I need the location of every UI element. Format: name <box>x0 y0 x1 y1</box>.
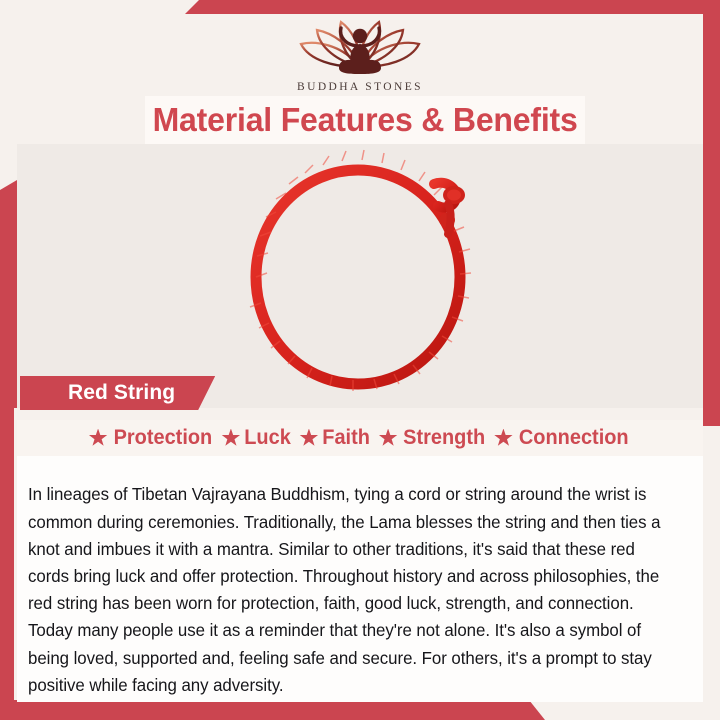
description-panel: In lineages of Tibetan Vajrayana Buddhis… <box>17 456 703 702</box>
benefit-label: Faith <box>323 426 371 450</box>
star-icon <box>494 429 513 448</box>
benefit-label: Strength <box>403 426 485 450</box>
benefit-item: Connection <box>494 426 632 450</box>
benefit-label: Luck <box>245 426 292 450</box>
brand-header: BUDDHA STONES <box>0 16 720 93</box>
product-image-panel <box>17 144 703 408</box>
star-icon <box>299 429 318 448</box>
benefit-item: Strength <box>379 426 487 450</box>
benefits-row: Protection Luck Faith Strength Connectio… <box>17 420 703 456</box>
title-band: Material Features & Benefits <box>145 96 585 144</box>
frame-bar-left-upper <box>0 180 17 408</box>
description-text: In lineages of Tibetan Vajrayana Buddhis… <box>28 481 672 699</box>
star-icon <box>379 429 398 448</box>
frame-bar-top <box>185 0 720 14</box>
product-label: Red String <box>68 381 175 405</box>
benefit-item: Protection <box>89 426 215 450</box>
frame-bar-bottom <box>0 700 545 720</box>
benefit-item: Luck <box>221 426 292 450</box>
benefit-item: Faith <box>299 426 371 450</box>
benefit-label: Protection <box>113 426 212 450</box>
product-label-banner: Red String <box>20 376 215 410</box>
lotus-meditation-logo-icon <box>295 16 425 78</box>
star-icon <box>89 429 108 448</box>
frame-bar-left-lower <box>0 405 14 720</box>
benefit-label: Connection <box>519 426 629 450</box>
infographic-poster: BUDDHA STONES Material Features & Benefi… <box>0 0 720 720</box>
page-title: Material Features & Benefits <box>152 101 577 139</box>
red-string-bracelet-image <box>220 146 500 396</box>
star-icon <box>221 429 240 448</box>
brand-name: BUDDHA STONES <box>0 81 720 93</box>
